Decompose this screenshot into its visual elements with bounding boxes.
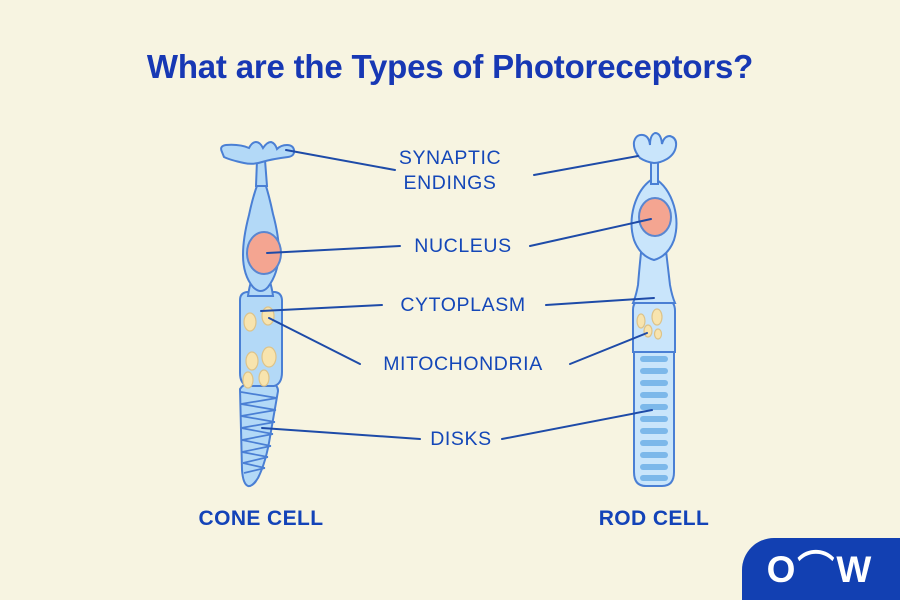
cone-cell-figure [221, 142, 294, 486]
leader-disks-rod [502, 410, 652, 439]
brand-logo-text: O⌒W [767, 551, 876, 588]
leader-disks-cone [262, 428, 420, 439]
leader-synaptic-rod [534, 156, 638, 175]
diagram-canvas: What are the Types of Photoreceptors? [0, 0, 900, 600]
label-synaptic-endings-line2: ENDINGS [399, 171, 501, 196]
label-cytoplasm: CYTOPLASM [400, 293, 525, 318]
rod-cell-figure [632, 133, 677, 486]
rod-synaptic-spherule [634, 133, 676, 163]
label-mitochondria: MITOCHONDRIA [383, 352, 543, 377]
label-nucleus: NUCLEUS [414, 234, 511, 259]
cell-name-cone: CONE CELL [199, 507, 324, 531]
label-synaptic-endings: SYNAPTIC ENDINGS [399, 146, 501, 196]
label-synaptic-endings-line1: SYNAPTIC [399, 146, 501, 171]
leader-nucleus-cone [267, 246, 400, 253]
rod-nucleus [639, 198, 671, 236]
leader-synaptic-cone [286, 150, 395, 170]
brand-logo[interactable]: O⌒W [742, 538, 900, 600]
label-disks: DISKS [430, 427, 492, 452]
cell-name-rod: ROD CELL [599, 507, 710, 531]
cone-synaptic-pedicle [221, 142, 294, 164]
